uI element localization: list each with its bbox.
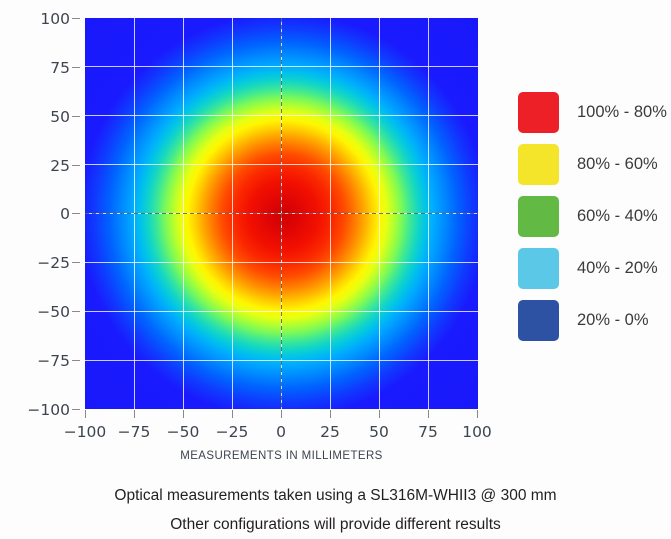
legend-item[interactable]: 60% - 40% [518, 190, 668, 242]
y-tick-mark [72, 18, 80, 19]
legend-color-swatch [518, 196, 559, 237]
legend-color-swatch [518, 92, 559, 133]
x-tick-mark [330, 410, 331, 418]
legend-item[interactable]: 80% - 60% [518, 138, 668, 190]
figure-caption: Optical measurements taken using a SL316… [0, 481, 671, 539]
y-tick-label: −75 [12, 352, 70, 370]
y-tick-mark [72, 67, 80, 68]
x-tick-label: 100 [445, 423, 509, 441]
y-tick-label: −100 [12, 401, 70, 419]
y-tick-label: 50 [12, 108, 70, 126]
caption-line-1: Optical measurements taken using a SL316… [0, 481, 671, 510]
y-axis-tick-labels: 100 75 50 25 0 −25 −50 −75 −100 [8, 0, 70, 430]
x-tick-mark [477, 410, 478, 418]
x-tick-mark [85, 410, 86, 418]
y-tick-mark [72, 360, 80, 361]
y-tick-mark [72, 262, 80, 263]
legend-item[interactable]: 40% - 20% [518, 242, 668, 294]
y-tick-label: 100 [12, 10, 70, 28]
y-tick-label: −25 [12, 254, 70, 272]
y-tick-mark [72, 409, 80, 410]
legend-item[interactable]: 20% - 0% [518, 294, 668, 346]
legend-item-label: 80% - 60% [577, 155, 658, 174]
x-tick-mark [379, 410, 380, 418]
y-tick-label: −50 [12, 303, 70, 321]
legend-color-swatch [518, 248, 559, 289]
x-tick-mark [281, 410, 282, 418]
legend-color-swatch [518, 144, 559, 185]
heatmap-plot-area [85, 18, 478, 409]
x-tick-mark [232, 410, 233, 418]
legend-color-swatch [518, 300, 559, 341]
x-tick-mark [134, 410, 135, 418]
caption-line-2: Other configurations will provide differ… [0, 510, 671, 539]
x-tick-mark [428, 410, 429, 418]
x-tick-mark [183, 410, 184, 418]
y-tick-label: 25 [12, 157, 70, 175]
x-axis-title: MEASUREMENTS IN MILLIMETERS [85, 450, 478, 462]
y-tick-label: 0 [12, 205, 70, 223]
legend-item-label: 100% - 80% [577, 103, 667, 122]
illumination-uniformity-figure: 100 75 50 25 0 −25 −50 −75 −100 −100 −75… [0, 0, 671, 538]
legend-item[interactable]: 100% - 80% [518, 86, 668, 138]
legend-item-label: 60% - 40% [577, 207, 658, 226]
y-tick-label: 75 [12, 59, 70, 77]
y-tick-mark [72, 165, 80, 166]
intensity-legend: 100% - 80% 80% - 60% 60% - 40% 40% - 20%… [518, 86, 668, 346]
x-axis-tick-labels: −100 −75 −50 −25 0 25 50 75 100 [85, 423, 478, 447]
legend-item-label: 20% - 0% [577, 311, 649, 330]
y-tick-mark [72, 311, 80, 312]
legend-item-label: 40% - 20% [577, 259, 658, 278]
y-tick-mark [72, 116, 80, 117]
origin-crosshair-horizontal [85, 213, 478, 214]
y-tick-mark [72, 213, 80, 214]
